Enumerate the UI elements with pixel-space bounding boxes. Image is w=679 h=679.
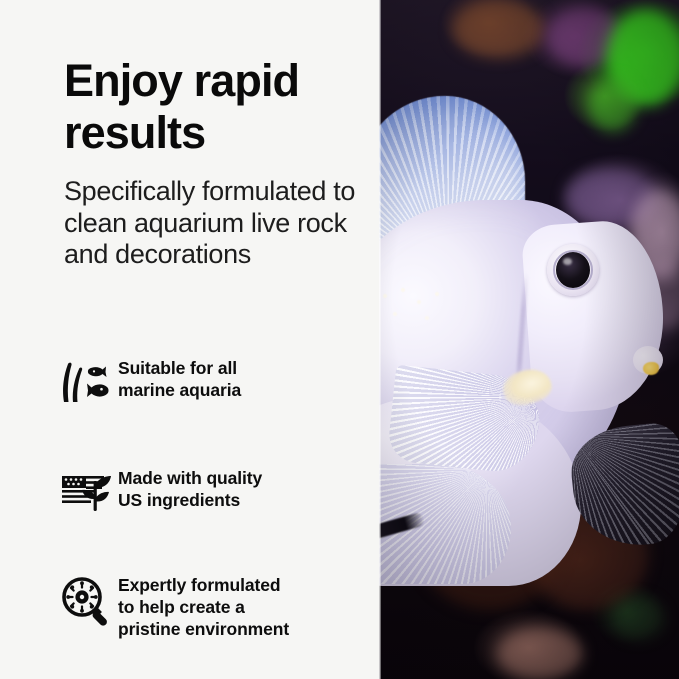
subheading: Specifically formulated to clean aquariu… — [64, 176, 370, 271]
headline: Enjoy rapid results — [64, 55, 364, 159]
eye-highlight — [563, 258, 572, 265]
feature-item-pristine-environment: Expertly formulated to help create a pri… — [56, 572, 376, 640]
seaweed-fish-icon — [56, 352, 118, 410]
text-panel: Enjoy rapid results Specifically formula… — [0, 0, 379, 679]
text-panel-inner: Enjoy rapid results Specifically formula… — [0, 0, 379, 679]
dark-fin-rays — [567, 420, 679, 551]
eye-pupil — [556, 252, 590, 288]
body-speckles — [379, 284, 465, 330]
coral-rock-brown — [453, 0, 545, 58]
us-flag-plant-icon — [56, 462, 118, 520]
dark-striped-fin — [567, 420, 679, 551]
coral-pink-bottom — [497, 628, 583, 679]
reef-scene — [379, 0, 679, 679]
product-feature-banner: Enjoy rapid results Specifically formula… — [0, 0, 679, 679]
magnifier-microbe-icon — [56, 572, 118, 635]
feature-label: Suitable for all marine aquaria — [118, 352, 241, 401]
feature-label: Expertly formulated to help create a pri… — [118, 572, 289, 640]
feature-item-marine-aquaria: Suitable for all marine aquaria — [56, 352, 376, 410]
panel-divider — [379, 0, 381, 679]
feature-item-us-ingredients: Made with quality US ingredients — [56, 462, 376, 520]
algae-patch — [611, 596, 665, 640]
product-photo — [379, 0, 679, 679]
white-tang-fish — [379, 96, 669, 566]
fish-mouth — [643, 362, 659, 375]
feature-label: Made with quality US ingredients — [118, 462, 262, 511]
